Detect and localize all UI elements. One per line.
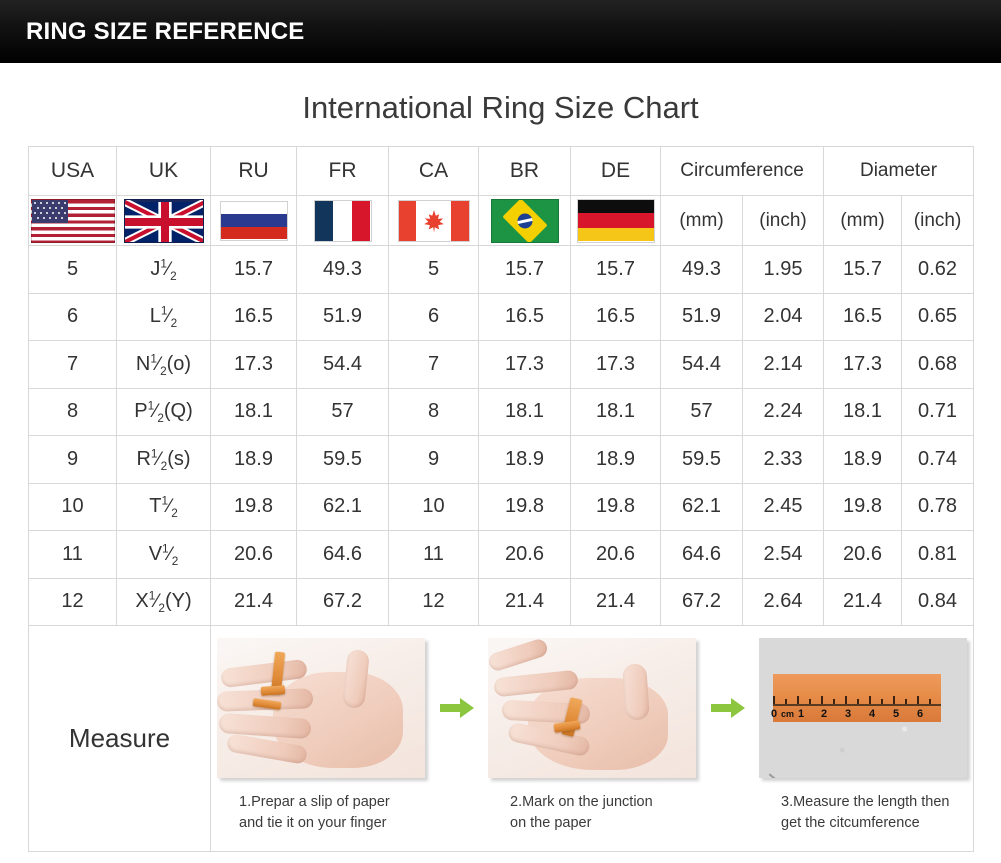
page-title: International Ring Size Chart (0, 90, 1001, 126)
cell-dia-mm: 18.1 (824, 388, 902, 436)
hand-with-paper-strip-photo (217, 638, 425, 778)
cell-ru: 18.1 (211, 388, 297, 436)
table-body: 5J1⁄215.749.3515.715.749.31.9515.70.626L… (29, 246, 974, 626)
flag-de-icon (577, 199, 655, 243)
cell-uk: R1⁄2(s) (117, 436, 211, 484)
cell-usa: 11 (29, 531, 117, 579)
cell-fr: 57 (297, 388, 389, 436)
cell-usa: 8 (29, 388, 117, 436)
measure-step-1: 1.Prepar a slip of paper and tie it on y… (217, 638, 425, 833)
cell-circ-inch: 2.54 (743, 531, 824, 579)
hand-marking-paper-photo (488, 638, 696, 778)
ruler-tick-4: 4 (869, 708, 875, 720)
flag-cell-br (479, 196, 571, 246)
table-row: 10T1⁄219.862.11019.819.862.12.4519.80.78 (29, 483, 974, 531)
ring-size-table: USA UK RU FR CA BR DE Circumference Diam… (28, 146, 974, 852)
table-row: 6L1⁄216.551.9616.516.551.92.0416.50.65 (29, 293, 974, 341)
cell-de: 19.8 (571, 483, 661, 531)
cell-uk: X1⁄2(Y) (117, 578, 211, 626)
flag-uk-icon (124, 199, 204, 243)
cell-ru: 16.5 (211, 293, 297, 341)
flag-cell-ca (389, 196, 479, 246)
cell-br: 17.3 (479, 341, 571, 389)
cell-circ-mm: 62.1 (661, 483, 743, 531)
table-header-flags-row: (mm) (inch) (mm) (inch) (29, 196, 974, 246)
cell-dia-mm: 21.4 (824, 578, 902, 626)
cell-br: 21.4 (479, 578, 571, 626)
table-row: 11V1⁄220.664.61120.620.664.62.5420.60.81 (29, 531, 974, 579)
cell-circ-inch: 1.95 (743, 246, 824, 294)
cell-de: 18.9 (571, 436, 661, 484)
cell-circ-mm: 57 (661, 388, 743, 436)
cell-uk: J1⁄2 (117, 246, 211, 294)
flag-fr-icon (314, 200, 372, 242)
cell-ru: 17.3 (211, 341, 297, 389)
table-row: 8P1⁄2(Q)18.157818.118.1572.2418.10.71 (29, 388, 974, 436)
column-header-br: BR (479, 147, 571, 196)
green-arrow-right-icon-1 (437, 638, 477, 778)
unit-header-diameter-mm: (mm) (824, 196, 902, 246)
ruler-measuring-paper-photo: 0 cm 1 2 3 4 5 6 (759, 638, 967, 778)
flag-cell-fr (297, 196, 389, 246)
cell-circ-mm: 49.3 (661, 246, 743, 294)
column-header-diameter: Diameter (824, 147, 974, 196)
measure-step-3: 0 cm 1 2 3 4 5 6 3.Measure the length th… (759, 638, 967, 833)
measure-step-3-caption: 3.Measure the length then get the citcum… (759, 792, 967, 833)
unit-header-circumference-inch: (inch) (743, 196, 824, 246)
cell-circ-inch: 2.24 (743, 388, 824, 436)
cell-fr: 49.3 (297, 246, 389, 294)
cell-fr: 64.6 (297, 531, 389, 579)
cell-uk: N1⁄2(o) (117, 341, 211, 389)
unit-header-circumference-mm: (mm) (661, 196, 743, 246)
cell-de: 15.7 (571, 246, 661, 294)
cell-dia-inch: 0.81 (902, 531, 974, 579)
banner-title: RING SIZE REFERENCE (26, 18, 305, 46)
cell-dia-inch: 0.65 (902, 293, 974, 341)
ruler-tick-5: 5 (893, 708, 899, 720)
cell-dia-inch: 0.62 (902, 246, 974, 294)
cell-ca: 11 (389, 531, 479, 579)
cell-fr: 51.9 (297, 293, 389, 341)
cell-fr: 67.2 (297, 578, 389, 626)
cell-circ-inch: 2.64 (743, 578, 824, 626)
ruler-tick-1: 1 (798, 708, 804, 720)
cell-de: 21.4 (571, 578, 661, 626)
cell-usa: 12 (29, 578, 117, 626)
cell-ca: 10 (389, 483, 479, 531)
cell-br: 18.9 (479, 436, 571, 484)
column-header-ca: CA (389, 147, 479, 196)
ruler-tick-2: 2 (821, 708, 827, 720)
cell-circ-inch: 2.33 (743, 436, 824, 484)
cell-ru: 19.8 (211, 483, 297, 531)
table-row: 9R1⁄2(s)18.959.5918.918.959.52.3318.90.7… (29, 436, 974, 484)
ruler-tick-6: 6 (917, 708, 923, 720)
cell-dia-mm: 18.9 (824, 436, 902, 484)
measure-row: Measure (29, 626, 974, 852)
flag-ru-icon (220, 201, 288, 241)
measure-steps-cell: 1.Prepar a slip of paper and tie it on y… (211, 626, 974, 852)
cell-dia-mm: 17.3 (824, 341, 902, 389)
cell-uk: V1⁄2 (117, 531, 211, 579)
cell-ca: 6 (389, 293, 479, 341)
cell-usa: 10 (29, 483, 117, 531)
cell-de: 17.3 (571, 341, 661, 389)
cell-usa: 5 (29, 246, 117, 294)
cell-dia-inch: 0.71 (902, 388, 974, 436)
cell-circ-inch: 2.04 (743, 293, 824, 341)
cell-circ-mm: 51.9 (661, 293, 743, 341)
green-arrow-right-icon-2 (708, 638, 748, 778)
table-header-names-row: USA UK RU FR CA BR DE Circumference Diam… (29, 147, 974, 196)
flag-ca-icon (398, 200, 470, 242)
cell-br: 18.1 (479, 388, 571, 436)
cell-ru: 21.4 (211, 578, 297, 626)
table-row: 5J1⁄215.749.3515.715.749.31.9515.70.62 (29, 246, 974, 294)
ring-size-table-container: USA UK RU FR CA BR DE Circumference Diam… (28, 146, 973, 852)
flag-cell-uk (117, 196, 211, 246)
page-banner: RING SIZE REFERENCE (0, 0, 1001, 63)
column-header-uk: UK (117, 147, 211, 196)
cell-de: 18.1 (571, 388, 661, 436)
cell-ca: 7 (389, 341, 479, 389)
cell-dia-inch: 0.78 (902, 483, 974, 531)
cell-uk: P1⁄2(Q) (117, 388, 211, 436)
cell-dia-mm: 19.8 (824, 483, 902, 531)
flag-cell-usa (29, 196, 117, 246)
cell-br: 15.7 (479, 246, 571, 294)
cell-circ-inch: 2.14 (743, 341, 824, 389)
cell-fr: 54.4 (297, 341, 389, 389)
cell-fr: 62.1 (297, 483, 389, 531)
measure-step-2-caption: 2.Mark on the junction on the paper (488, 792, 696, 833)
step-2-line-1: 2.Mark on the junction (510, 794, 653, 810)
column-header-de: DE (571, 147, 661, 196)
measure-step-1-caption: 1.Prepar a slip of paper and tie it on y… (217, 792, 425, 833)
cell-uk: T1⁄2 (117, 483, 211, 531)
flag-br-icon (491, 199, 559, 243)
flag-usa-icon (31, 199, 115, 243)
cell-dia-inch: 0.68 (902, 341, 974, 389)
ruler-tick-0: 0 (771, 708, 777, 720)
flag-cell-de (571, 196, 661, 246)
unit-header-diameter-inch: (inch) (902, 196, 974, 246)
cell-ca: 12 (389, 578, 479, 626)
measure-label: Measure (29, 626, 211, 852)
step-1-line-2: and tie it on your finger (239, 815, 387, 831)
cell-usa: 9 (29, 436, 117, 484)
cell-dia-mm: 20.6 (824, 531, 902, 579)
cell-ru: 20.6 (211, 531, 297, 579)
cell-usa: 6 (29, 293, 117, 341)
step-3-line-1: 3.Measure the length then (781, 794, 949, 810)
column-header-circumference: Circumference (661, 147, 824, 196)
step-2-line-2: on the paper (510, 815, 591, 831)
cell-ca: 5 (389, 246, 479, 294)
table-row: 12X1⁄2(Y)21.467.21221.421.467.22.6421.40… (29, 578, 974, 626)
cell-fr: 59.5 (297, 436, 389, 484)
measure-steps: 1.Prepar a slip of paper and tie it on y… (211, 626, 973, 851)
cell-circ-mm: 54.4 (661, 341, 743, 389)
column-header-ru: RU (211, 147, 297, 196)
cell-de: 16.5 (571, 293, 661, 341)
ruler-tick-3: 3 (845, 708, 851, 720)
cell-circ-mm: 67.2 (661, 578, 743, 626)
ruler-unit-label: cm (781, 709, 794, 719)
cell-dia-inch: 0.74 (902, 436, 974, 484)
step-1-line-1: 1.Prepar a slip of paper (239, 794, 390, 810)
column-header-usa: USA (29, 147, 117, 196)
cell-br: 19.8 (479, 483, 571, 531)
cell-uk: L1⁄2 (117, 293, 211, 341)
cell-br: 20.6 (479, 531, 571, 579)
cell-circ-mm: 59.5 (661, 436, 743, 484)
cell-circ-mm: 64.6 (661, 531, 743, 579)
cell-br: 16.5 (479, 293, 571, 341)
cell-ru: 18.9 (211, 436, 297, 484)
cell-circ-inch: 2.45 (743, 483, 824, 531)
maple-leaf-icon (421, 208, 447, 234)
cell-ru: 15.7 (211, 246, 297, 294)
step-3-line-2: get the citcumference (781, 815, 920, 831)
cell-dia-inch: 0.84 (902, 578, 974, 626)
cell-dia-mm: 15.7 (824, 246, 902, 294)
cell-ca: 8 (389, 388, 479, 436)
cell-de: 20.6 (571, 531, 661, 579)
measure-step-2: 2.Mark on the junction on the paper (488, 638, 696, 833)
cell-usa: 7 (29, 341, 117, 389)
flag-cell-ru (211, 196, 297, 246)
table-row: 7N1⁄2(o)17.354.4717.317.354.42.1417.30.6… (29, 341, 974, 389)
cell-dia-mm: 16.5 (824, 293, 902, 341)
column-header-fr: FR (297, 147, 389, 196)
cell-ca: 9 (389, 436, 479, 484)
